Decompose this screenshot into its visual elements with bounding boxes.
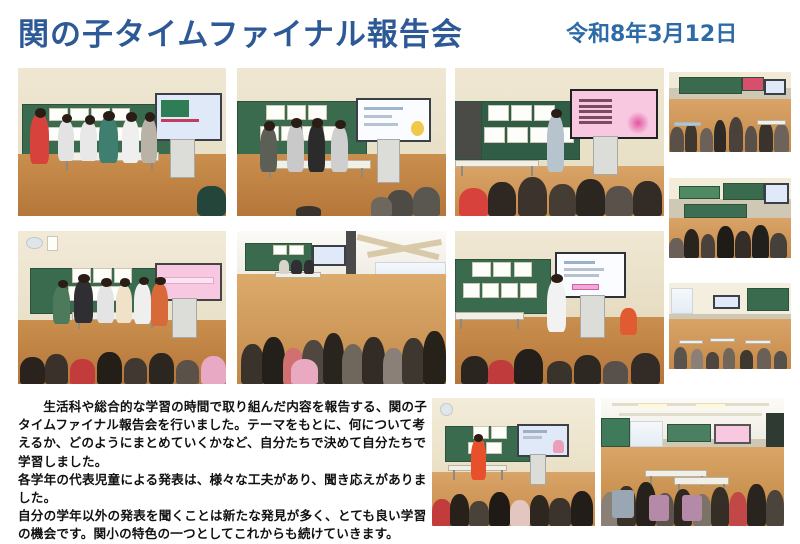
- photo-row1-col1: [18, 68, 226, 216]
- photo-row2-col2: [237, 231, 446, 384]
- photo-bottom-2: [601, 398, 784, 526]
- photo-right-3: [669, 283, 791, 369]
- article-paragraph-2: 各学年の代表児童による発表は、様々な工夫があり、聞き応えがありました。: [18, 471, 428, 507]
- newsletter-page: 関の子タイムファイナル報告会 令和8年3月12日: [0, 0, 800, 535]
- page-title: 関の子タイムファイナル報告会: [18, 9, 463, 54]
- photo-right-1: [669, 72, 791, 152]
- photo-bottom-1: [432, 398, 595, 526]
- photo-row2-col1: [18, 231, 226, 384]
- page-date: 令和8年3月12日: [566, 16, 737, 48]
- article-text: 生活科や総合的な学習の時間で取り組んだ内容を報告する、関の子タイムファイナル報告…: [18, 398, 428, 544]
- page-header: 関の子タイムファイナル報告会 令和8年3月12日: [0, 0, 800, 62]
- article-paragraph-1: 生活科や総合的な学習の時間で取り組んだ内容を報告する、関の子タイムファイナル報告…: [18, 398, 428, 471]
- photo-row2-col3: [455, 231, 664, 384]
- photo-row1-col3: [455, 68, 664, 216]
- photo-right-2: [669, 178, 791, 258]
- article-paragraph-3: 自分の学年以外の発表を聞くことは新たな発見が多く、とても良い学習の機会です。関小…: [18, 507, 428, 543]
- photo-row1-col2: [237, 68, 446, 216]
